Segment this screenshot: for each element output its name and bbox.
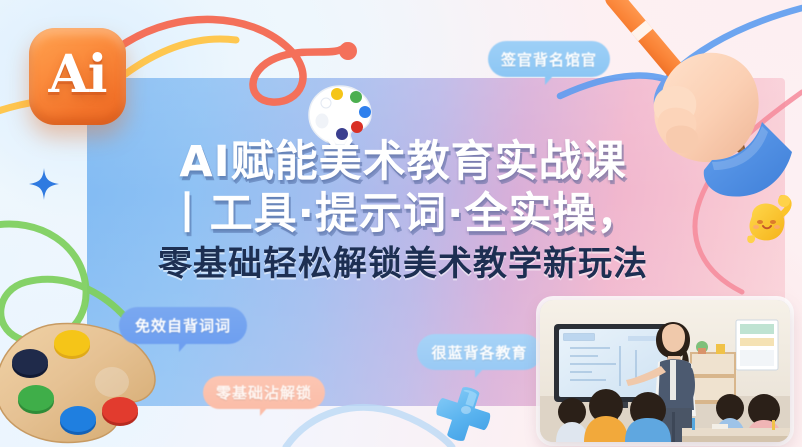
blue-3d-cross xyxy=(432,386,494,444)
badge-bottom-left[interactable]: 零基础沾解锁 xyxy=(203,376,325,409)
badge-mid-left[interactable]: 免效自背词词 xyxy=(119,307,247,344)
headline-line-1: AI赋能美术教育实战课 xyxy=(143,141,663,184)
badge-top-right[interactable]: 签官背名馆官 xyxy=(488,41,610,77)
promo-banner: Ai xyxy=(0,0,802,447)
blue-sparkle xyxy=(29,168,59,200)
yellow-mascot-character xyxy=(742,192,794,248)
classroom-teacher-photo xyxy=(540,300,790,442)
badge-bottom-center[interactable]: 很蓝背各教育 xyxy=(417,334,542,370)
page-title: AI赋能美术教育实战课 丨工具·提示词·全实操， 零基础轻松解锁美术教学新玩法 xyxy=(143,141,663,281)
headline-line-3: 零基础轻松解锁美术教学新玩法 xyxy=(143,247,663,281)
ai-app-icon-label: Ai xyxy=(29,28,126,125)
headline-line-2: 丨工具·提示词·全实操， xyxy=(143,193,663,236)
ai-app-icon[interactable]: Ai xyxy=(29,28,126,125)
